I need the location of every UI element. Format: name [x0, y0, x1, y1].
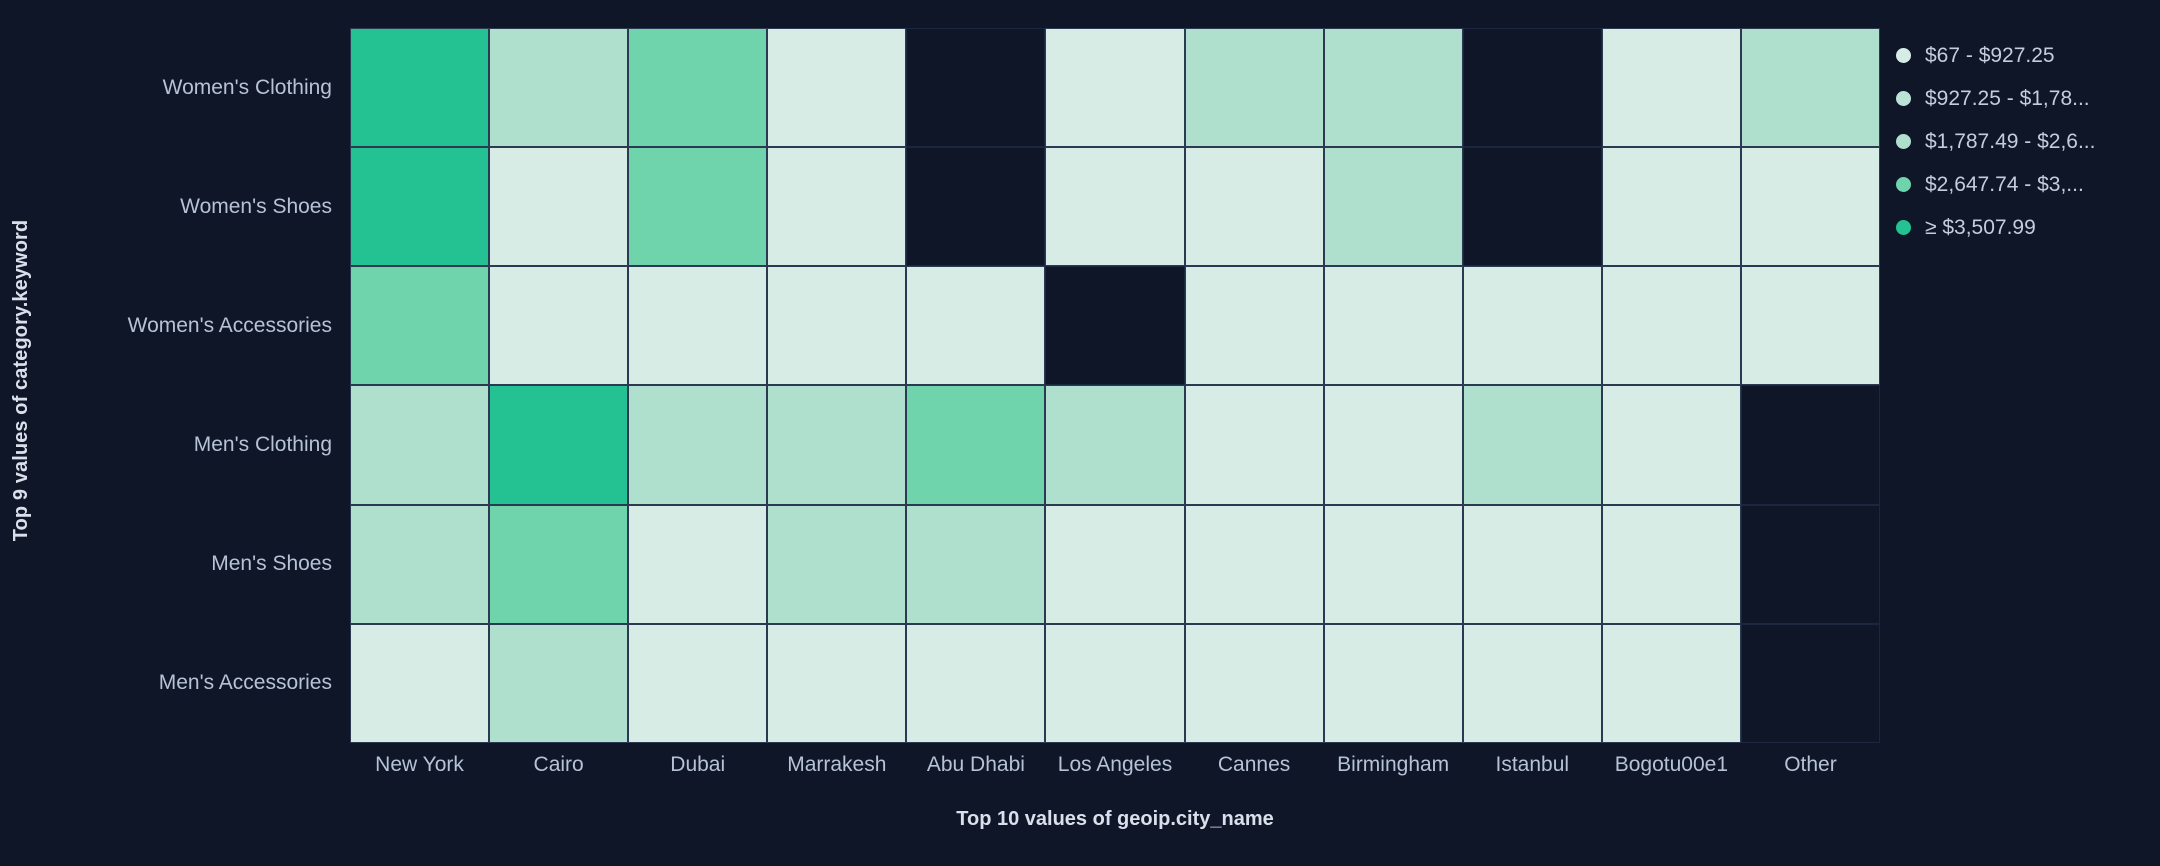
legend-swatch-icon	[1896, 177, 1911, 192]
heatmap-cell[interactable]	[628, 266, 767, 385]
heatmap-cell[interactable]	[767, 147, 906, 266]
legend-item[interactable]: ≥ $3,507.99	[1896, 206, 2146, 249]
heatmap-cell[interactable]	[1463, 385, 1602, 504]
heatmap-cell[interactable]	[1741, 266, 1880, 385]
heatmap-cell[interactable]	[1463, 266, 1602, 385]
heatmap-cell[interactable]	[1741, 28, 1880, 147]
heatmap-cell[interactable]	[906, 505, 1045, 624]
heatmap-cell[interactable]	[1741, 147, 1880, 266]
x-axis-tick-label: Birmingham	[1324, 748, 1463, 782]
heatmap-cell[interactable]	[1602, 147, 1741, 266]
heatmap-cell[interactable]	[350, 147, 489, 266]
x-axis-tick-label: Cairo	[489, 748, 628, 782]
heatmap-cell[interactable]	[1602, 385, 1741, 504]
heatmap-cell[interactable]	[1324, 624, 1463, 743]
legend-item[interactable]: $2,647.74 - $3,...	[1896, 163, 2146, 206]
heatmap-visualization: Top 9 values of category.keyword Women's…	[0, 0, 2160, 866]
x-axis-title: Top 10 values of geoip.city_name	[350, 808, 1880, 831]
heatmap-cell[interactable]	[628, 505, 767, 624]
heatmap-cell[interactable]	[1602, 624, 1741, 743]
heatmap-cell[interactable]	[1185, 266, 1324, 385]
heatmap-cell[interactable]	[906, 266, 1045, 385]
heatmap-cell[interactable]	[1602, 28, 1741, 147]
y-axis-tick-label: Men's Accessories	[159, 671, 332, 695]
heatmap-cell[interactable]	[1045, 28, 1184, 147]
heatmap-cell[interactable]	[489, 385, 628, 504]
legend-swatch-icon	[1896, 91, 1911, 106]
legend-item[interactable]: $67 - $927.25	[1896, 34, 2146, 77]
heatmap-cell[interactable]	[906, 28, 1045, 147]
heatmap-cell[interactable]	[1602, 266, 1741, 385]
heatmap-cell[interactable]	[489, 624, 628, 743]
heatmap-cell[interactable]	[1185, 385, 1324, 504]
legend-item[interactable]: $927.25 - $1,78...	[1896, 77, 2146, 120]
heatmap-cell[interactable]	[489, 266, 628, 385]
heatmap-cell[interactable]	[489, 147, 628, 266]
heatmap-cell[interactable]	[628, 28, 767, 147]
heatmap-cell[interactable]	[1045, 385, 1184, 504]
heatmap-cell[interactable]	[1324, 147, 1463, 266]
heatmap-cell[interactable]	[767, 624, 906, 743]
heatmap-cell[interactable]	[1045, 266, 1184, 385]
legend-label: $2,647.74 - $3,...	[1925, 173, 2084, 197]
y-axis-title: Top 9 values of category.keyword	[0, 0, 44, 760]
legend-label: ≥ $3,507.99	[1925, 216, 2036, 240]
y-axis-tick-label: Women's Shoes	[180, 195, 332, 219]
y-axis-tick-label: Women's Accessories	[128, 314, 332, 338]
heatmap-cell[interactable]	[767, 385, 906, 504]
legend: $67 - $927.25$927.25 - $1,78...$1,787.49…	[1896, 34, 2146, 249]
y-axis-tick-label: Men's Clothing	[194, 433, 332, 457]
heatmap-cell[interactable]	[1463, 505, 1602, 624]
heatmap-cell[interactable]	[489, 28, 628, 147]
heatmap-cell[interactable]	[1741, 505, 1880, 624]
heatmap-cell[interactable]	[1045, 505, 1184, 624]
heatmap-cell[interactable]	[628, 624, 767, 743]
heatmap-cell[interactable]	[350, 505, 489, 624]
heatmap-cell[interactable]	[628, 385, 767, 504]
heatmap-cell[interactable]	[1185, 624, 1324, 743]
heatmap-cell[interactable]	[906, 385, 1045, 504]
heatmap-cell[interactable]	[1324, 385, 1463, 504]
x-axis-tick-label: Los Angeles	[1045, 748, 1184, 782]
y-axis-tick-labels: Women's ClothingWomen's ShoesWomen's Acc…	[44, 28, 344, 743]
y-axis-title-text: Top 9 values of category.keyword	[11, 219, 34, 540]
legend-swatch-icon	[1896, 134, 1911, 149]
heatmap-cell[interactable]	[906, 624, 1045, 743]
y-axis-tick-label: Women's Clothing	[163, 76, 332, 100]
x-axis-tick-label: Bogotu00e1	[1602, 748, 1741, 782]
legend-item[interactable]: $1,787.49 - $2,6...	[1896, 120, 2146, 163]
heatmap-cell[interactable]	[1741, 385, 1880, 504]
x-axis-tick-label: Istanbul	[1463, 748, 1602, 782]
heatmap-cell[interactable]	[489, 505, 628, 624]
heatmap-cell[interactable]	[1463, 28, 1602, 147]
heatmap-cell[interactable]	[1741, 624, 1880, 743]
x-axis-tick-label: Dubai	[628, 748, 767, 782]
heatmap-cell[interactable]	[1463, 624, 1602, 743]
x-axis-tick-labels: New YorkCairoDubaiMarrakeshAbu DhabiLos …	[350, 748, 1880, 782]
legend-label: $67 - $927.25	[1925, 44, 2055, 68]
x-axis-tick-label: New York	[350, 748, 489, 782]
heatmap-cell[interactable]	[1045, 624, 1184, 743]
heatmap-cell[interactable]	[1185, 505, 1324, 624]
x-axis-tick-label: Abu Dhabi	[906, 748, 1045, 782]
x-axis-tick-label: Cannes	[1185, 748, 1324, 782]
heatmap-cell[interactable]	[767, 28, 906, 147]
heatmap-cell[interactable]	[1185, 28, 1324, 147]
heatmap-cell[interactable]	[1324, 505, 1463, 624]
heatmap-cell[interactable]	[350, 385, 489, 504]
heatmap-cell[interactable]	[1185, 147, 1324, 266]
y-axis-tick-label: Men's Shoes	[211, 552, 332, 576]
legend-swatch-icon	[1896, 220, 1911, 235]
x-axis-tick-label: Other	[1741, 748, 1880, 782]
heatmap-cell[interactable]	[350, 28, 489, 147]
heatmap-cell[interactable]	[628, 147, 767, 266]
heatmap-cell[interactable]	[906, 147, 1045, 266]
heatmap-cell[interactable]	[1463, 147, 1602, 266]
heatmap-cell[interactable]	[350, 624, 489, 743]
heatmap-cell[interactable]	[1602, 505, 1741, 624]
legend-label: $1,787.49 - $2,6...	[1925, 130, 2095, 154]
legend-swatch-icon	[1896, 48, 1911, 63]
legend-label: $927.25 - $1,78...	[1925, 87, 2090, 111]
heatmap-cell[interactable]	[767, 505, 906, 624]
heatmap-cell[interactable]	[767, 266, 906, 385]
heatmap-cell[interactable]	[1045, 147, 1184, 266]
heatmap-cell[interactable]	[1324, 28, 1463, 147]
heatmap-cell[interactable]	[1324, 266, 1463, 385]
x-axis-tick-label: Marrakesh	[767, 748, 906, 782]
heatmap-grid	[350, 28, 1880, 743]
heatmap-cell[interactable]	[350, 266, 489, 385]
